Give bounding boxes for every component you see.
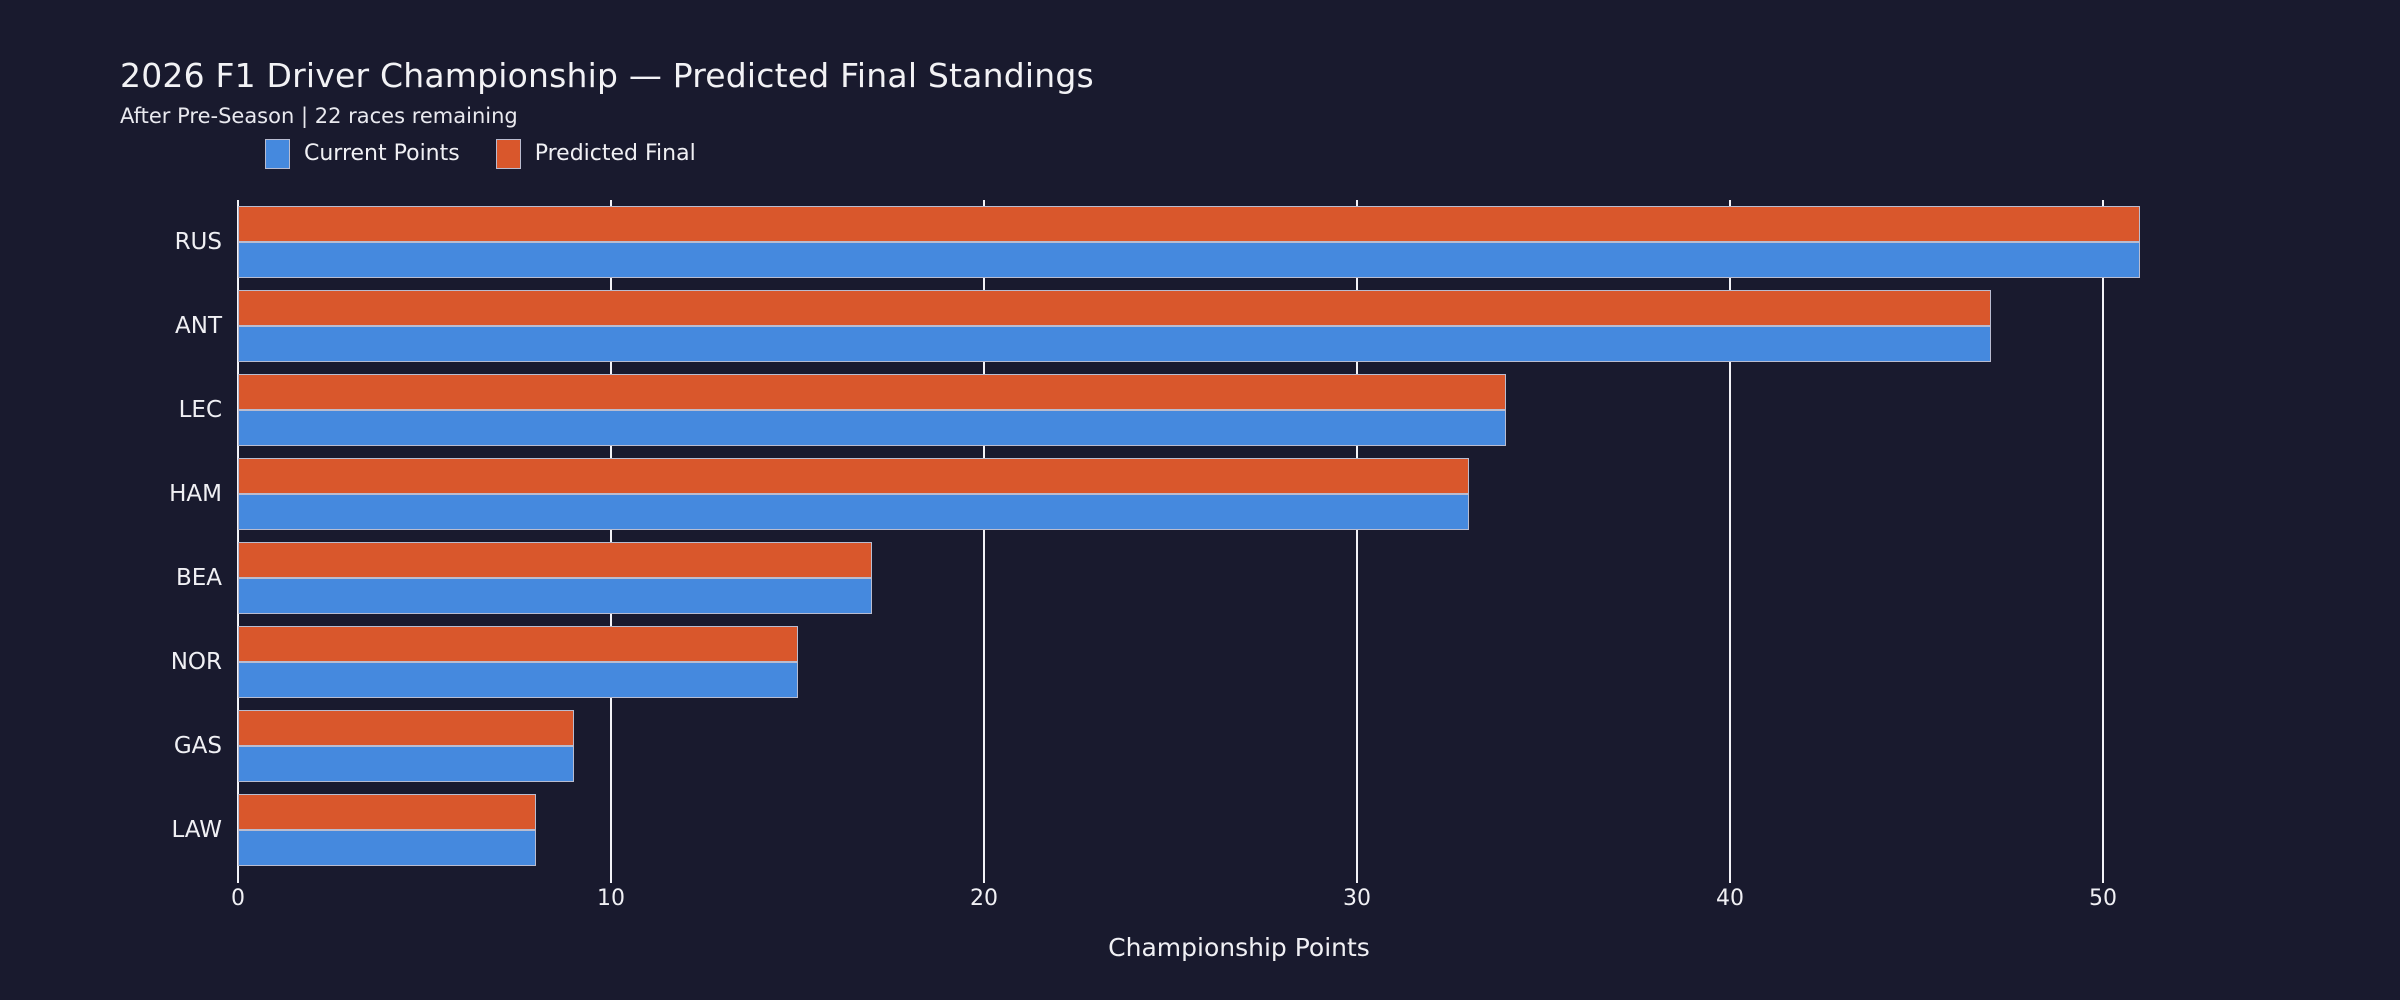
x-axis-ticks: 01020304050 [238, 872, 2103, 873]
bar-current-points-ham[interactable] [238, 494, 1469, 530]
chart-legend: Current Points Predicted Final [265, 139, 696, 169]
x-tick-label-10: 10 [597, 886, 625, 911]
bar-current-points-lec[interactable] [238, 410, 1506, 446]
legend-label-predicted-final: Predicted Final [535, 142, 696, 166]
chart-subtitle: After Pre-Season | 22 races remaining [120, 102, 2120, 130]
y-axis-tick-labels: RUSANTLECHAMBEANORGASLAW [0, 200, 230, 872]
bar-predicted-final-nor[interactable] [238, 626, 798, 662]
bar-group-ant [238, 290, 2103, 362]
bar-group-ham [238, 458, 2103, 530]
y-tick-label-ham: HAM [169, 481, 222, 507]
x-tick-label-50: 50 [2089, 886, 2117, 911]
chart-title: 2026 F1 Driver Championship — Predicted … [120, 56, 2120, 96]
bar-group-law [238, 794, 2103, 866]
x-tick-mark-30 [1356, 872, 1358, 883]
x-tick-label-30: 30 [1343, 886, 1371, 911]
x-tick-mark-40 [1729, 872, 1731, 883]
y-tick-label-lec: LEC [179, 397, 222, 423]
bar-current-points-bea[interactable] [238, 578, 872, 614]
x-tick-label-0: 0 [231, 886, 245, 911]
y-tick-label-law: LAW [171, 817, 222, 843]
legend-entry-predicted-final[interactable]: Predicted Final [496, 139, 696, 169]
bar-predicted-final-rus[interactable] [238, 206, 2140, 242]
bar-predicted-final-gas[interactable] [238, 710, 574, 746]
y-tick-label-nor: NOR [171, 649, 222, 675]
legend-swatch-blue-icon [265, 139, 290, 169]
bar-group-bea [238, 542, 2103, 614]
bar-predicted-final-ant[interactable] [238, 290, 1991, 326]
y-tick-label-bea: BEA [176, 565, 222, 591]
x-axis-title-text: Championship Points [1108, 933, 1370, 962]
x-tick-label-20: 20 [970, 886, 998, 911]
bar-current-points-rus[interactable] [238, 242, 2140, 278]
bar-current-points-nor[interactable] [238, 662, 798, 698]
bar-current-points-law[interactable] [238, 830, 536, 866]
y-tick-label-gas: GAS [174, 733, 222, 759]
x-tick-mark-0 [237, 872, 239, 883]
bar-group-gas [238, 710, 2103, 782]
x-tick-mark-10 [610, 872, 612, 883]
y-tick-label-rus: RUS [175, 229, 222, 255]
chart-figure: 2026 F1 Driver Championship — Predicted … [0, 0, 2400, 1000]
x-tick-mark-50 [2102, 872, 2104, 883]
bar-predicted-final-lec[interactable] [238, 374, 1506, 410]
y-tick-label-ant: ANT [175, 313, 222, 339]
legend-entry-current-points[interactable]: Current Points [265, 139, 460, 169]
bar-predicted-final-bea[interactable] [238, 542, 872, 578]
bar-predicted-final-law[interactable] [238, 794, 536, 830]
bar-group-nor [238, 626, 2103, 698]
x-axis-title: Championship Points [0, 933, 2400, 962]
bar-current-points-ant[interactable] [238, 326, 1991, 362]
chart-header: 2026 F1 Driver Championship — Predicted … [120, 56, 2120, 130]
bar-group-lec [238, 374, 2103, 446]
legend-swatch-orange-icon [496, 139, 521, 169]
bar-predicted-final-ham[interactable] [238, 458, 1469, 494]
x-tick-mark-20 [983, 872, 985, 883]
bar-group-rus [238, 206, 2103, 278]
plot-area [238, 200, 2103, 872]
bar-current-points-gas[interactable] [238, 746, 574, 782]
x-tick-label-40: 40 [1716, 886, 1744, 911]
legend-label-current-points: Current Points [304, 142, 460, 166]
